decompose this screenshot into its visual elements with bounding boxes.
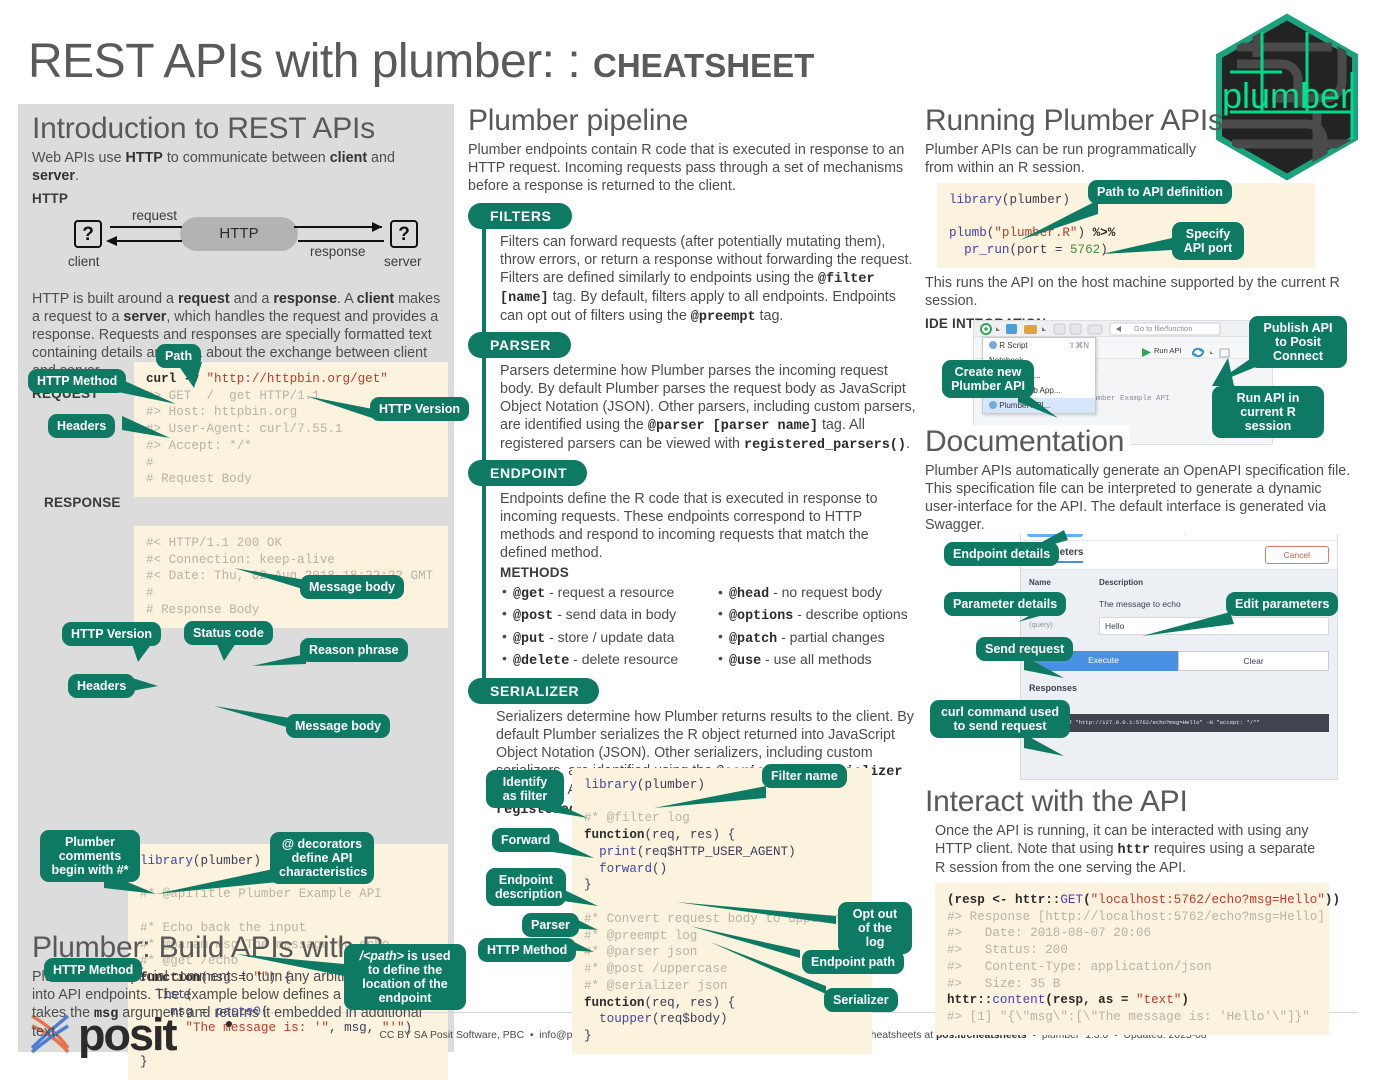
callout-headers: Headers: [48, 414, 115, 438]
callout-path-location: /<path> is used to define the location o…: [344, 944, 466, 1010]
callout-message-body-2: Message body: [286, 714, 390, 738]
swagger-table-header: Name Description: [1029, 578, 1329, 587]
http-arrows: [32, 208, 468, 286]
callout-path-to-api: Path to API definition: [1088, 180, 1232, 204]
http-diagram: ? client ? server HTTP request response: [32, 208, 442, 286]
pointer-edit-parameters: [1142, 612, 1238, 640]
callout-pipeline-http-method: HTTP Method: [478, 938, 576, 962]
pointer-http-method: [118, 374, 188, 410]
method-item: @options - describe options: [716, 604, 918, 626]
pipeline-body-parser: Parsers determine how Plumber parses the…: [482, 358, 918, 460]
swagger-col-desc: Description: [1099, 578, 1143, 587]
swagger-col-name: Name: [1029, 578, 1099, 587]
callout-publish-api: Publish API to Posit Connect: [1249, 316, 1347, 368]
http-label: HTTP: [32, 191, 442, 206]
r-file-icon: [989, 341, 997, 349]
documentation-section: Documentation Plumber APIs automatically…: [925, 425, 1365, 540]
column-pipeline: Plumber pipeline Plumber endpoints conta…: [468, 104, 918, 825]
pipeline-stage-endpoint: ENDPOINT Endpoints define the R code tha…: [468, 460, 918, 678]
interact-para: Once the API is running, it can be inter…: [935, 822, 1327, 877]
callout-reason-phrase: Reason phrase: [300, 638, 408, 662]
interact-section: Interact with the API Once the API is ru…: [925, 785, 1365, 1035]
swagger-responses-label: Responses: [1029, 683, 1337, 693]
callout-identify-filter: Identify as filter: [486, 770, 564, 808]
swagger-action-buttons: Execute Clear: [1029, 651, 1329, 671]
ide-menu-item-r-script[interactable]: R Script ⇧⌘N: [983, 338, 1095, 353]
ide-toolbar: Go to file/function: [974, 321, 1272, 337]
callout-parameter-details: Parameter details: [944, 592, 1066, 616]
callout-curl-command: curl command used to send request: [930, 700, 1070, 738]
documentation-heading: Documentation: [925, 425, 1130, 459]
callout-serializer: Serializer: [824, 988, 898, 1012]
ide-toolbar-icons: [974, 321, 1274, 337]
page-title-cheatsheet: CHEATSHEET: [593, 47, 814, 84]
pointer-specify-port: [1102, 236, 1178, 258]
method-item: @patch - partial changes: [716, 627, 918, 649]
swagger-clear-button[interactable]: Clear: [1178, 651, 1329, 671]
running-para: Plumber APIs can be run programmatically…: [925, 141, 1225, 177]
pipeline-pill-endpoint: ENDPOINT: [468, 460, 587, 486]
pointer-path-to-api: [1020, 200, 1106, 244]
running-heading: Running Plumber APIs: [925, 104, 1365, 138]
pipeline-stage-filters: FILTERS Filters can forward requests (af…: [468, 203, 918, 332]
documentation-para: Plumber APIs automatically generate an O…: [925, 462, 1355, 534]
callout-status-code: Status code: [184, 621, 273, 645]
callout-decorators: @ decorators define API characteristics: [270, 832, 374, 884]
callout-headers-2: Headers: [68, 674, 135, 698]
pipeline-body-endpoint: Endpoints define the R code that is exec…: [482, 486, 918, 678]
callout-specify-port: Specify API port: [1172, 222, 1244, 260]
intro-para2: HTTP is built around a request and a res…: [32, 290, 442, 380]
pointer-path-location: [236, 952, 352, 978]
pipeline-body-filters: Filters can forward requests (after pote…: [482, 229, 918, 332]
ide-goto-placeholder: Go to file/function: [1134, 324, 1192, 333]
pipeline-stage-parser: PARSER Parsers determine how Plumber par…: [468, 332, 918, 460]
pointer-forward: [552, 838, 602, 864]
callout-create-new-api: Create new Plumber API: [942, 360, 1034, 398]
column-intro: Introduction to REST APIs Web APIs use H…: [18, 104, 454, 1047]
callout-endpoint-path: Endpoint path: [802, 950, 904, 974]
ide-code-line: Plumber Example API: [1084, 395, 1170, 403]
callout-path: Path: [156, 344, 201, 368]
method-item: @head - no request body: [716, 582, 918, 604]
callout-run-api: Run API in current R session: [1212, 386, 1324, 438]
interact-heading: Interact with the API: [925, 785, 1194, 819]
pipeline-pill-filters: FILTERS: [468, 203, 572, 229]
interact-code-block: (resp <- httr::GET("localhost:5762/echo?…: [935, 883, 1329, 1035]
pipeline-pill-parser: PARSER: [468, 332, 571, 358]
pointer-opt-out: [676, 902, 844, 928]
pipeline-pill-serializer: SERIALIZER: [468, 678, 599, 704]
method-item: @use - use all methods: [716, 649, 918, 671]
plumber-icon: [989, 401, 997, 409]
pipeline-heading: Plumber pipeline: [468, 104, 918, 138]
method-item: @put - store / update data: [500, 627, 702, 649]
method-item: @get - request a resource: [500, 582, 702, 604]
ide-run-api-button[interactable]: Run API: [1154, 346, 1182, 355]
intro-lead: Web APIs use HTTP to communicate between…: [32, 149, 442, 185]
method-item: @post - send data in body: [500, 604, 702, 626]
callout-http-version-2: HTTP Version: [62, 622, 161, 646]
callout-message-body: Message body: [300, 575, 404, 599]
running-after: This runs the API on the host machine su…: [925, 274, 1365, 310]
callout-parser: Parser: [522, 913, 579, 937]
response-section-label: RESPONSE: [44, 495, 121, 510]
callout-build-http-method: HTTP Method: [44, 958, 142, 982]
methods-label: METHODS: [500, 565, 918, 580]
callout-edit-parameters: Edit parameters: [1226, 592, 1338, 616]
swagger-curl-command: curl -X GET "http://127.0.0.1:5762/echo?…: [1029, 714, 1329, 732]
column-running: Running Plumber APIs Plumber APIs can be…: [925, 104, 1365, 333]
callout-endpoint-description: Endpoint description: [486, 868, 566, 906]
callout-plumber-comments: Plumber comments begin with #*: [40, 830, 140, 882]
callout-http-version: HTTP Version: [370, 397, 469, 421]
page-title-main: REST APIs with plumber: :: [28, 35, 593, 88]
methods-list: @get - request a resource @post - send d…: [500, 582, 918, 672]
callout-filter-name: Filter name: [762, 764, 847, 788]
pipeline-para: Plumber endpoints contain R code that is…: [468, 141, 918, 195]
method-item: @delete - delete resource: [500, 649, 702, 671]
callout-http-method: HTTP Method: [28, 369, 126, 393]
swagger-curl-label: Curl: [1029, 703, 1337, 712]
callout-send-request: Send request: [976, 637, 1073, 661]
pointer-decorators: [156, 868, 286, 902]
swagger-cancel-button[interactable]: Cancel: [1265, 546, 1329, 564]
callout-opt-out: Opt out of the log: [838, 902, 912, 954]
pointer-message-body-2: [214, 704, 296, 730]
page-title: REST APIs with plumber: : CHEATSHEET: [28, 34, 814, 89]
pointer-headers: [122, 412, 182, 446]
page-header: REST APIs with plumber: : CHEATSHEET: [28, 34, 814, 89]
intro-heading: Introduction to REST APIs: [32, 112, 442, 146]
callout-forward: Forward: [492, 828, 559, 852]
callout-endpoint-details: Endpoint details: [944, 542, 1059, 566]
pointer-filter-name: [654, 786, 774, 812]
